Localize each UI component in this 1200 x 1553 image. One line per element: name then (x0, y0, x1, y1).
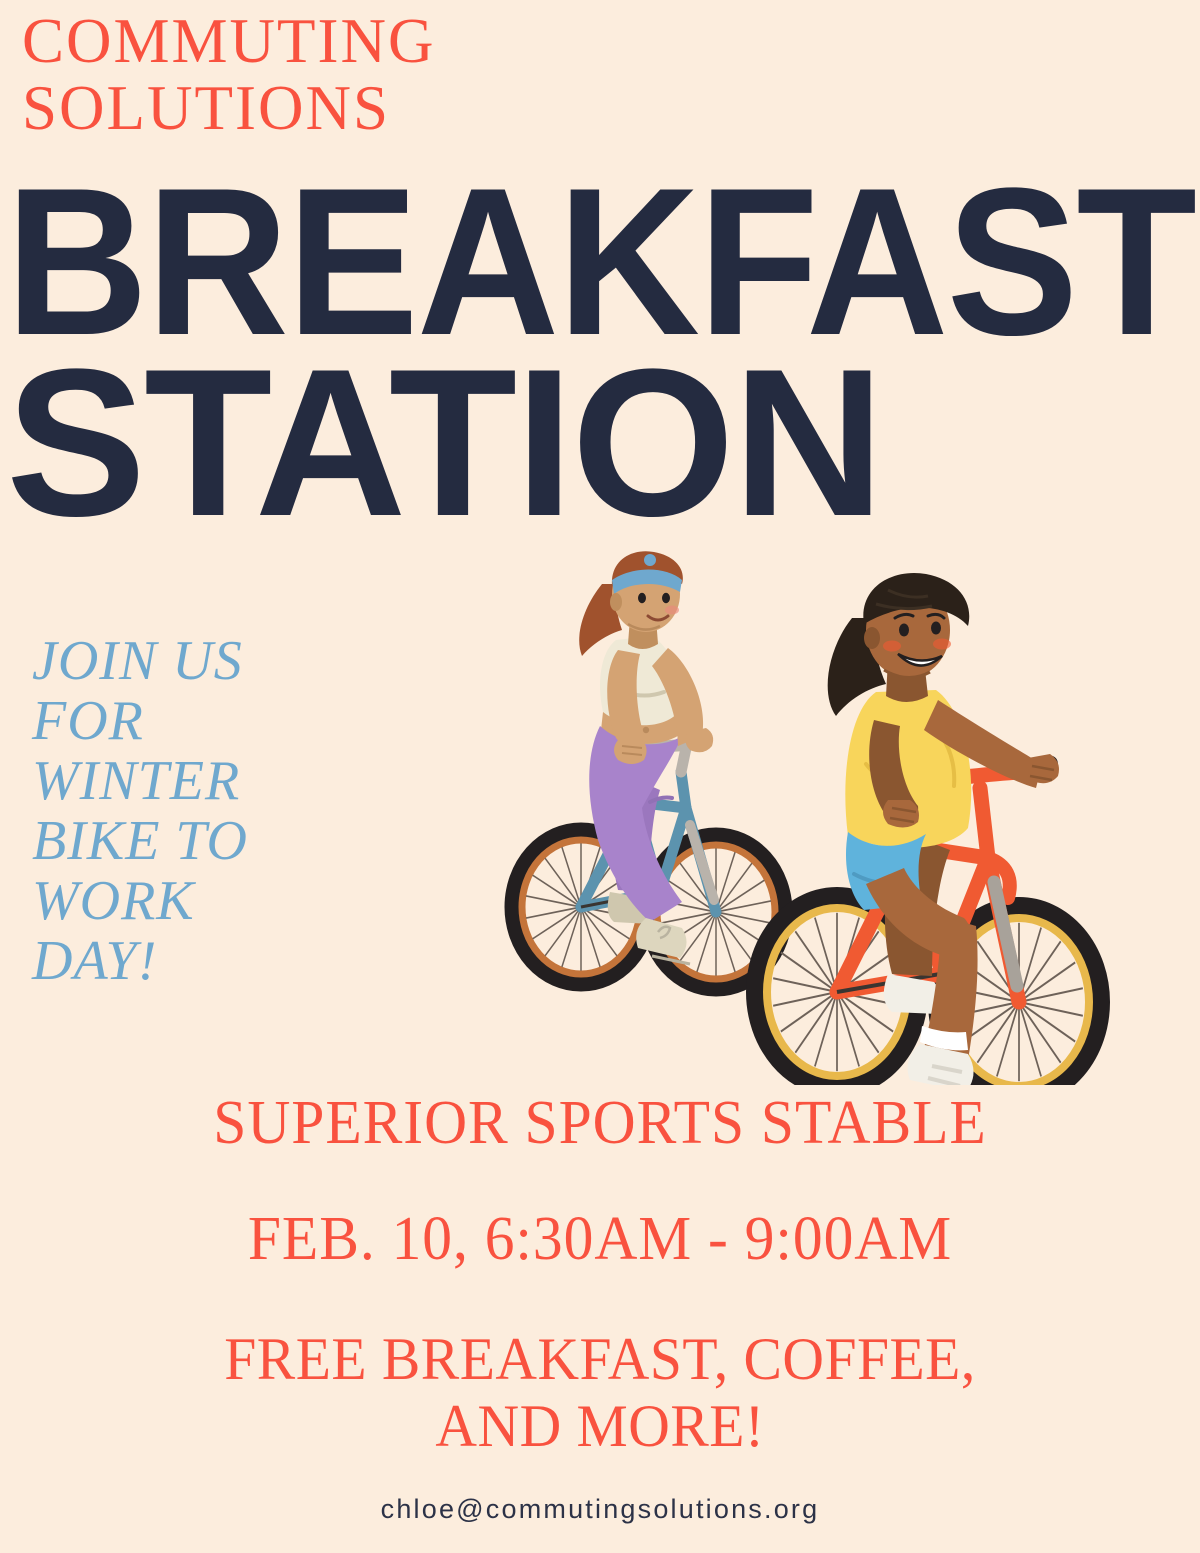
event-date-time: FEB. 10, 6:30AM - 9:00AM (24, 1208, 1176, 1270)
cyclist-right-group (755, 573, 1101, 1085)
event-offer: FREE BREAKFAST, COFFEE, AND MORE! (24, 1326, 1176, 1460)
cyclist-left-group (512, 551, 785, 989)
page-title: BREAKFAST STATION (0, 172, 1200, 533)
contact-email[interactable]: chloe@commutingsolutions.org (0, 1494, 1200, 1525)
venue-name: SUPERIOR SPORTS STABLE (24, 1092, 1176, 1154)
event-details: SUPERIOR SPORTS STABLE FEB. 10, 6:30AM -… (0, 1092, 1200, 1460)
organization-name: COMMUTING SOLUTIONS (22, 8, 722, 143)
poster-canvas: COMMUTING SOLUTIONS BREAKFAST STATION JO… (0, 0, 1200, 1553)
event-tagline: JOIN US FOR WINTER BIKE TO WORK DAY! (32, 632, 332, 991)
two-cyclists-illustration (500, 540, 1120, 1085)
title-line-station: STATION (0, 353, 1200, 534)
